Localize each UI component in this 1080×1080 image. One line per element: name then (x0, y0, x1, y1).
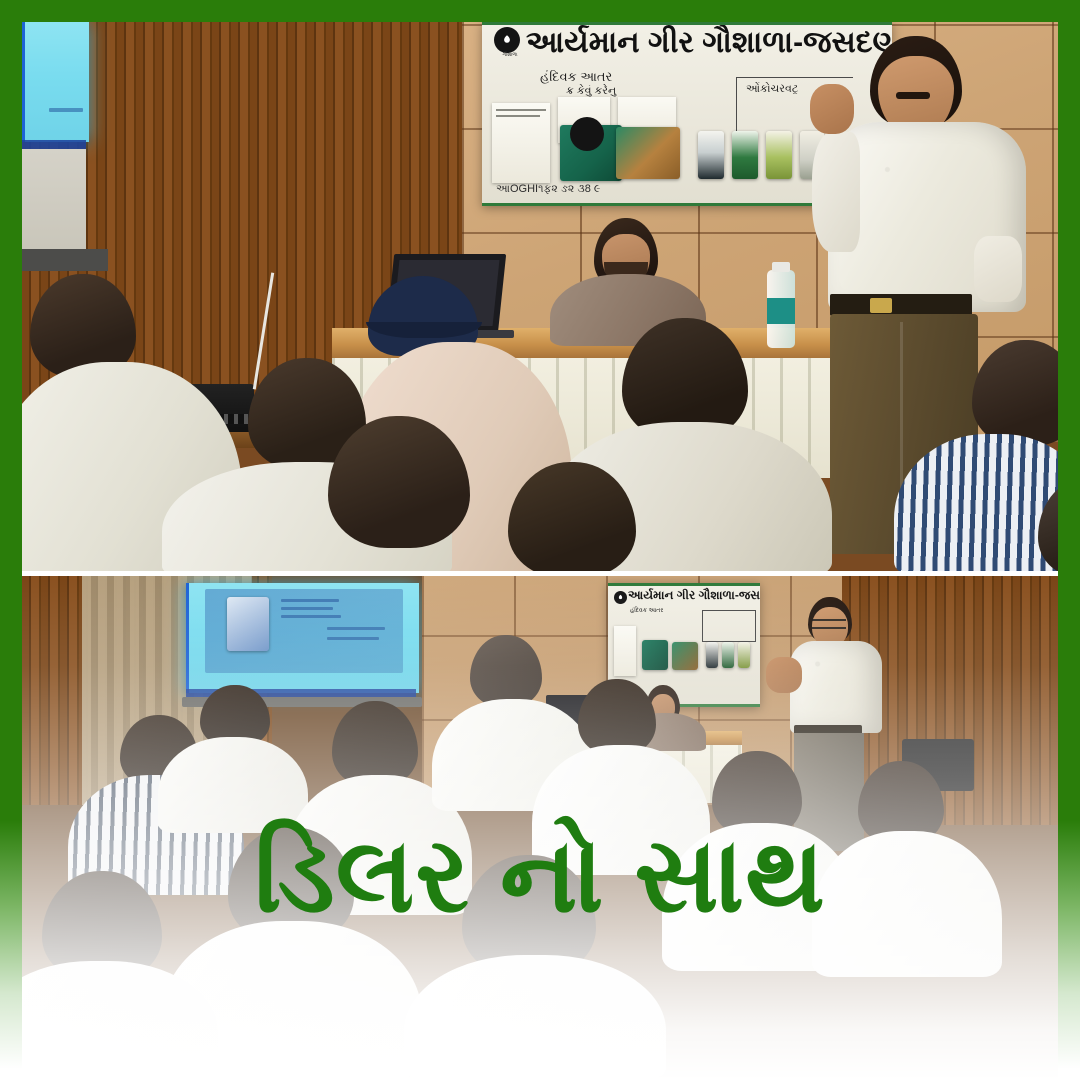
banner-packet-open (616, 127, 680, 179)
banner-product-1-lower (706, 642, 718, 668)
presenter-forearm (974, 236, 1022, 302)
presenter-belt (830, 294, 972, 316)
banner-product-2 (732, 131, 758, 179)
banner-leaflet-lines-2 (496, 115, 540, 117)
banner-leaflet-lower (614, 626, 636, 676)
projector-screen-lower (186, 583, 419, 693)
banner-leaflet-lines (496, 109, 546, 111)
presenter-belt-buckle (870, 298, 892, 313)
banner-subtitle-lower: હંદિવક આતર (630, 608, 663, 615)
banner-product-3-lower (738, 642, 750, 668)
water-bottle-cap (772, 262, 790, 272)
frame-left-border (0, 0, 22, 1080)
headline-text: ડિલર નો સાથ (0, 820, 1080, 932)
banner-product-1 (698, 131, 724, 179)
screen-bottom-bar (22, 249, 108, 271)
presenter-arm-lower (766, 657, 802, 693)
banner-packet-hero-lower (642, 640, 668, 670)
gaushala-logo-icon (494, 27, 520, 53)
presenter-glasses-icon (812, 619, 846, 629)
slide-text-5 (327, 637, 379, 640)
slide-text-1 (281, 599, 339, 602)
photo-top: ગૌશાળા આર્યમાન ગીર ગૌશાળા-જસદણ હંદિવક આત… (22, 22, 1058, 575)
water-bottle-label (767, 298, 795, 324)
audience-lower-shirt-9 (404, 955, 666, 1080)
banner-packet-open-lower (672, 642, 698, 670)
presenter-shirt-lower (790, 641, 882, 733)
projector-screen (22, 22, 89, 142)
banner-footer-text: આOGHI૧ફ૨ ઙ૨ ૩8 ૯ (496, 183, 600, 196)
banner-product-3 (766, 131, 792, 179)
presenter-arm-raised (812, 132, 860, 252)
banner-packet-badge (570, 117, 604, 151)
presenter-moustache (896, 92, 930, 99)
photo-divider (22, 571, 1058, 576)
banner-product-2-lower (722, 642, 734, 668)
frame-top-border (0, 0, 1080, 22)
banner-title: આર્યમાન ગીર ગૌશાળા-જસદણ (526, 26, 892, 60)
presenter-hand (810, 84, 854, 134)
slide-text-2 (281, 607, 333, 610)
screen-taskbar (22, 140, 86, 149)
banner-subtitle-line1: હંદિવક આતર (540, 69, 612, 85)
screen-lower-blank (22, 149, 86, 249)
slide-product-image (227, 597, 269, 651)
slide-text-3 (281, 615, 341, 618)
poster-canvas: ગૌશાળા આર્યમાન ગીર ગૌશાળા-જસદણ હંદિવક આત… (0, 0, 1080, 1080)
slide-text-4 (327, 627, 385, 630)
frame-right-border (1058, 0, 1080, 1080)
gaushala-logo-icon-lower (614, 591, 627, 604)
banner-right-box-lower (702, 610, 756, 642)
banner-title-lower: આર્યમાન ગીર ગૌશાળા-જસદણ (628, 588, 760, 603)
